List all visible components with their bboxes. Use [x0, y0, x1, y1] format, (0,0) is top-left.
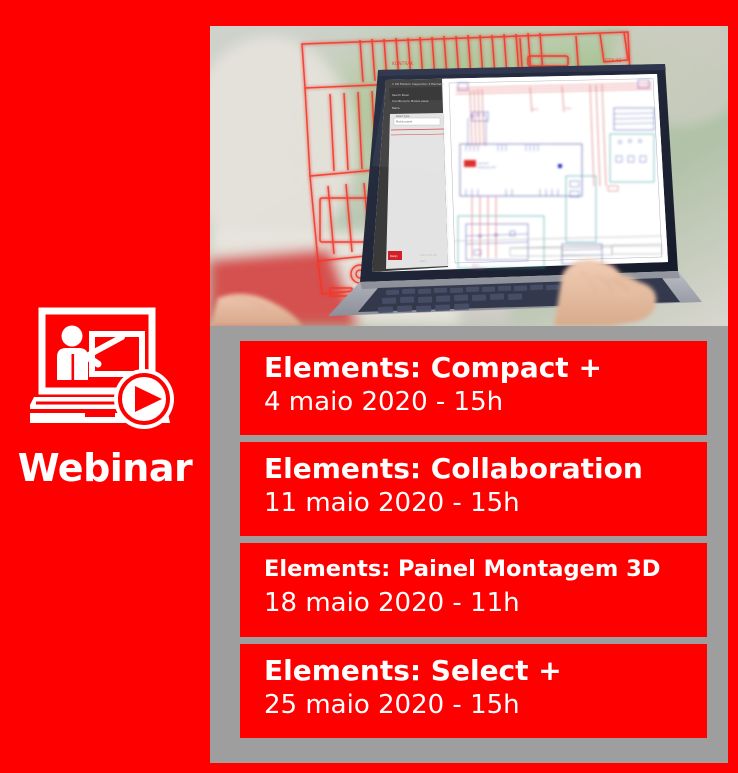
session-date: 11 maio 2020 - 15h — [264, 487, 707, 521]
sessions-list: Elements: Compact + 4 maio 2020 - 15h El… — [240, 341, 707, 738]
svg-text:Design: Design — [390, 255, 398, 258]
brand-column: Webinar — [0, 0, 210, 773]
session-title: Elements: Collaboration — [264, 451, 707, 487]
brand-lockup: Webinar — [18, 307, 193, 487]
session-date: 4 maio 2020 - 15h — [264, 386, 707, 420]
session-title: Elements: Compact + — [264, 350, 707, 386]
session-date: 18 maio 2020 - 11h — [264, 587, 707, 621]
svg-text:Ready: Ready — [420, 260, 427, 263]
hero-photo: KONTRAK K1 CONNECT 230 X 40 GTX-42 1 SD … — [210, 26, 728, 326]
session-card[interactable]: Elements: Compact + 4 maio 2020 - 15h — [240, 341, 707, 435]
svg-text:Panel board: Panel board — [472, 267, 485, 270]
webinar-poster: Webinar — [0, 0, 738, 773]
session-date: 25 maio 2020 - 15h — [264, 689, 707, 723]
session-title: Elements: Painel Montagem 3D — [264, 552, 707, 587]
session-title: Elements: Select + — [264, 653, 707, 689]
session-card[interactable]: Elements: Select + 25 maio 2020 - 15h — [240, 644, 707, 738]
webinar-laptop-presenter-play-icon — [30, 307, 180, 439]
svg-text:KONTRAK: KONTRAK — [392, 61, 414, 67]
session-card[interactable]: Elements: Collaboration 11 maio 2020 - 1… — [240, 442, 707, 536]
sessions-panel: Elements: Compact + 4 maio 2020 - 15h El… — [210, 326, 728, 763]
svg-text:GTX-42: GTX-42 — [605, 58, 621, 64]
brand-label: Webinar — [18, 449, 193, 487]
svg-text:Modulo: Modulo — [472, 265, 480, 267]
session-card[interactable]: Elements: Painel Montagem 3D 18 maio 202… — [240, 543, 707, 637]
svg-text:2020 11:25 AM: 2020 11:25 AM — [420, 254, 437, 257]
